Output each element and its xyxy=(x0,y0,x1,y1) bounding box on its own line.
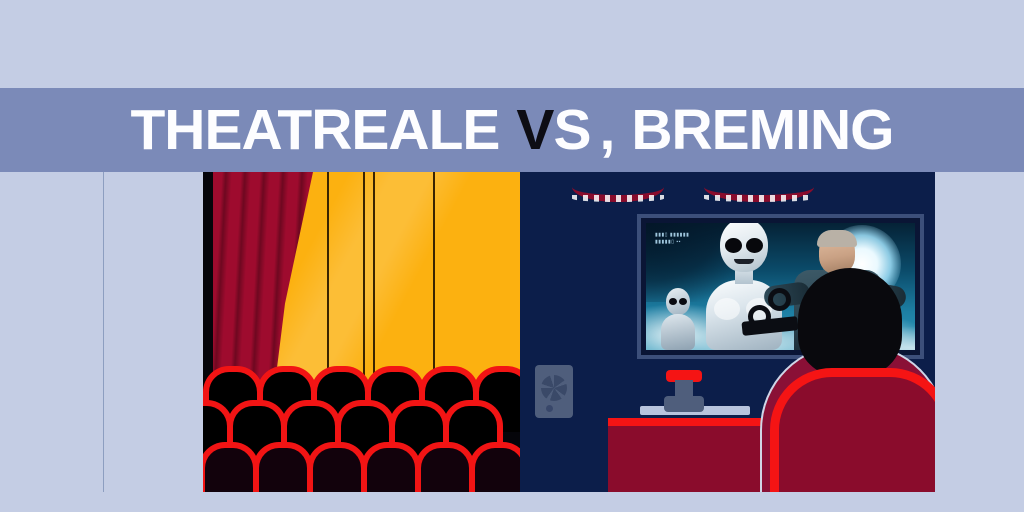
theater-seat xyxy=(469,442,520,492)
speaker-box xyxy=(535,365,573,418)
screen-seam-2 xyxy=(363,172,365,384)
screen-sheen xyxy=(269,172,520,384)
main-illustration: ▮▮▮▯ ▮▮▮▮▮▮ ▮▮▮▮▮▯ ▪▪ xyxy=(103,172,935,492)
title-letter-s: S xyxy=(553,97,590,163)
tv-overlay-caption: ▮▮▮▯ ▮▮▮▮▮▮ ▮▮▮▮▮▯ ▪▪ xyxy=(655,232,689,247)
alien-eye-right xyxy=(746,238,763,253)
home-living-room-panel: ▮▮▮▯ ▮▮▮▮▮▮ ▮▮▮▮▮▯ ▪▪ xyxy=(520,172,935,492)
title-banner: THEATREALE V S , BREMING xyxy=(0,88,1024,172)
theater-seat xyxy=(361,442,421,492)
small-alien-body xyxy=(661,314,695,350)
movie-theater-panel xyxy=(203,172,520,492)
couch-back-cushion xyxy=(770,368,935,492)
screen-seam-3 xyxy=(373,172,375,384)
rope-barrier-left xyxy=(572,172,664,202)
screen-seam-1 xyxy=(327,172,329,384)
tv-caption-line-2: ▮▮▮▮▮▯ ▪▪ xyxy=(655,239,689,246)
viewer-hair xyxy=(798,268,902,376)
title-word-theatreale: THEATREALE xyxy=(130,97,499,163)
rope-stanchion xyxy=(660,370,708,418)
theater-seat xyxy=(253,442,313,492)
seat-row-front xyxy=(203,442,485,492)
theater-seat xyxy=(203,442,259,492)
rope-barrier-right xyxy=(704,172,814,202)
small-alien-eye-right xyxy=(679,298,687,305)
alien-eye-left xyxy=(725,238,742,253)
small-alien-eye-left xyxy=(669,298,677,305)
tv-caption-line-1: ▮▮▮▯ ▮▮▮▮▮▮ xyxy=(655,232,689,239)
screen-seam-4 xyxy=(433,172,435,384)
man-hair xyxy=(817,230,857,247)
small-alien-robot xyxy=(658,288,698,350)
title-letter-v: V xyxy=(516,97,553,163)
alien-mouth xyxy=(734,259,754,264)
illustration-left-margin xyxy=(103,172,203,492)
speaker-tweeter-icon xyxy=(546,405,553,412)
theater-seat xyxy=(307,442,367,492)
cinema-projection-screen xyxy=(269,172,520,384)
title-comma: , xyxy=(599,97,614,163)
screenshot-canvas: THEATREALE V S , BREMING xyxy=(0,0,1024,512)
couch-backrest xyxy=(770,368,935,492)
title-word-breming: BREMING xyxy=(631,97,893,163)
title-text: THEATREALE V S , BREMING xyxy=(130,97,893,163)
alien-chest-left xyxy=(714,298,740,320)
stanchion-base xyxy=(664,396,704,412)
speaker-cone-icon xyxy=(541,375,567,401)
theater-seat xyxy=(415,442,475,492)
